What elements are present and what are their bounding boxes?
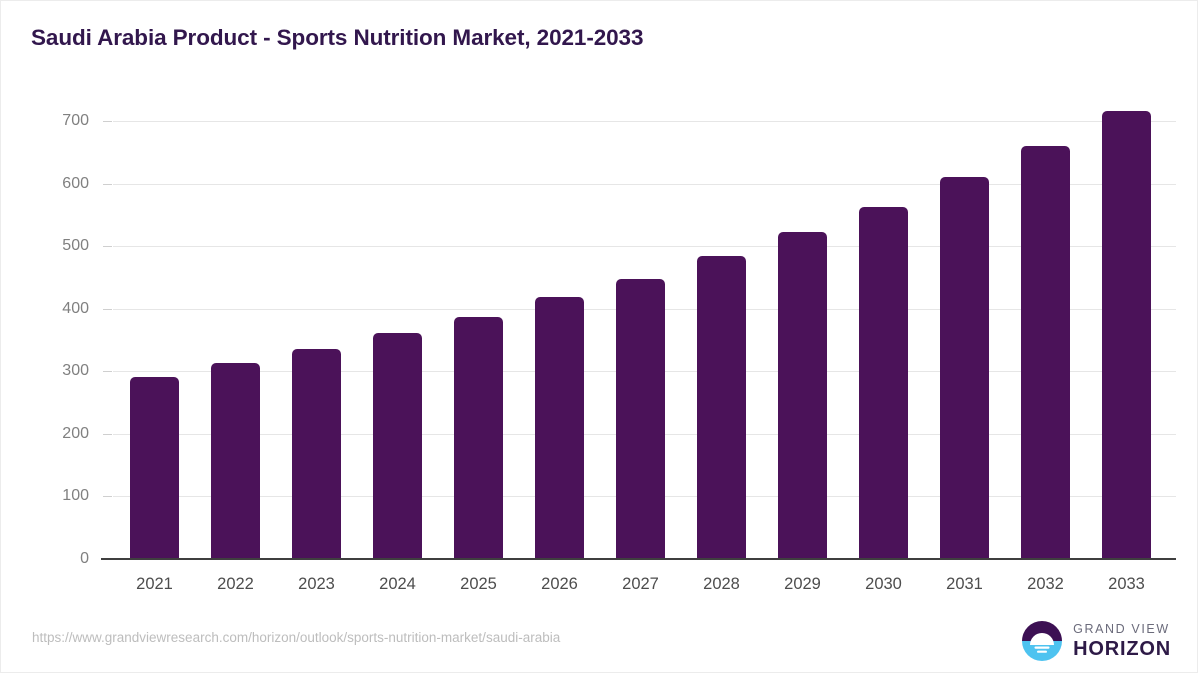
bar[interactable] — [373, 333, 422, 560]
logo-wordmark: GRAND VIEW HORIZON — [1073, 623, 1171, 659]
bar[interactable] — [535, 297, 584, 559]
gridline — [113, 246, 1176, 247]
bar[interactable] — [1021, 146, 1070, 559]
y-tick-label: 200 — [29, 425, 89, 443]
x-tick-label: 2021 — [115, 575, 195, 594]
horizon-circle-icon — [1020, 619, 1064, 663]
y-tick-mark — [103, 184, 112, 185]
y-tick-mark — [103, 496, 112, 497]
x-tick-label: 2028 — [682, 575, 762, 594]
x-tick-label: 2032 — [1006, 575, 1086, 594]
x-tick-label: 2030 — [844, 575, 924, 594]
x-tick-label: 2027 — [601, 575, 681, 594]
grand-view-horizon-logo[interactable]: GRAND VIEW HORIZON — [1020, 618, 1171, 664]
y-tick-label: 400 — [29, 300, 89, 318]
x-tick-label: 2025 — [439, 575, 519, 594]
y-tick-label: 600 — [29, 175, 89, 193]
bar[interactable] — [292, 349, 341, 559]
bar[interactable] — [616, 279, 665, 559]
logo-line-2: HORIZON — [1073, 639, 1171, 659]
x-tick-label: 2033 — [1087, 575, 1167, 594]
y-tick-label: 100 — [29, 487, 89, 505]
plot-area: 0100200300400500600700 20212022202320242… — [113, 120, 1176, 559]
bar[interactable] — [940, 177, 989, 559]
x-tick-label: 2024 — [358, 575, 438, 594]
x-tick-label: 2022 — [196, 575, 276, 594]
y-tick-mark — [103, 434, 112, 435]
bar[interactable] — [778, 232, 827, 559]
bar[interactable] — [454, 317, 503, 559]
x-tick-label: 2023 — [277, 575, 357, 594]
bar[interactable] — [130, 377, 179, 559]
y-tick-mark — [103, 371, 112, 372]
y-tick-label: 500 — [29, 237, 89, 255]
plot-wrapper: Market Size (US$M) 010020030040050060070… — [1, 1, 1199, 674]
gridline — [113, 121, 1176, 122]
gridline — [113, 184, 1176, 185]
x-tick-label: 2026 — [520, 575, 600, 594]
y-tick-label: 700 — [29, 112, 89, 130]
chart-canvas: Saudi Arabia Product - Sports Nutrition … — [0, 0, 1198, 673]
logo-line-1: GRAND VIEW — [1073, 623, 1171, 636]
x-tick-label: 2029 — [763, 575, 843, 594]
bar[interactable] — [211, 363, 260, 559]
y-tick-label: 0 — [29, 550, 89, 568]
bar[interactable] — [859, 207, 908, 559]
source-url[interactable]: https://www.grandviewresearch.com/horizo… — [32, 630, 560, 645]
y-tick-mark — [103, 309, 112, 310]
y-tick-mark — [103, 246, 112, 247]
y-tick-label: 300 — [29, 362, 89, 380]
bar[interactable] — [1102, 111, 1151, 559]
y-tick-mark — [103, 121, 112, 122]
bar[interactable] — [697, 256, 746, 559]
x-axis-line — [101, 558, 1176, 560]
x-tick-label: 2031 — [925, 575, 1005, 594]
